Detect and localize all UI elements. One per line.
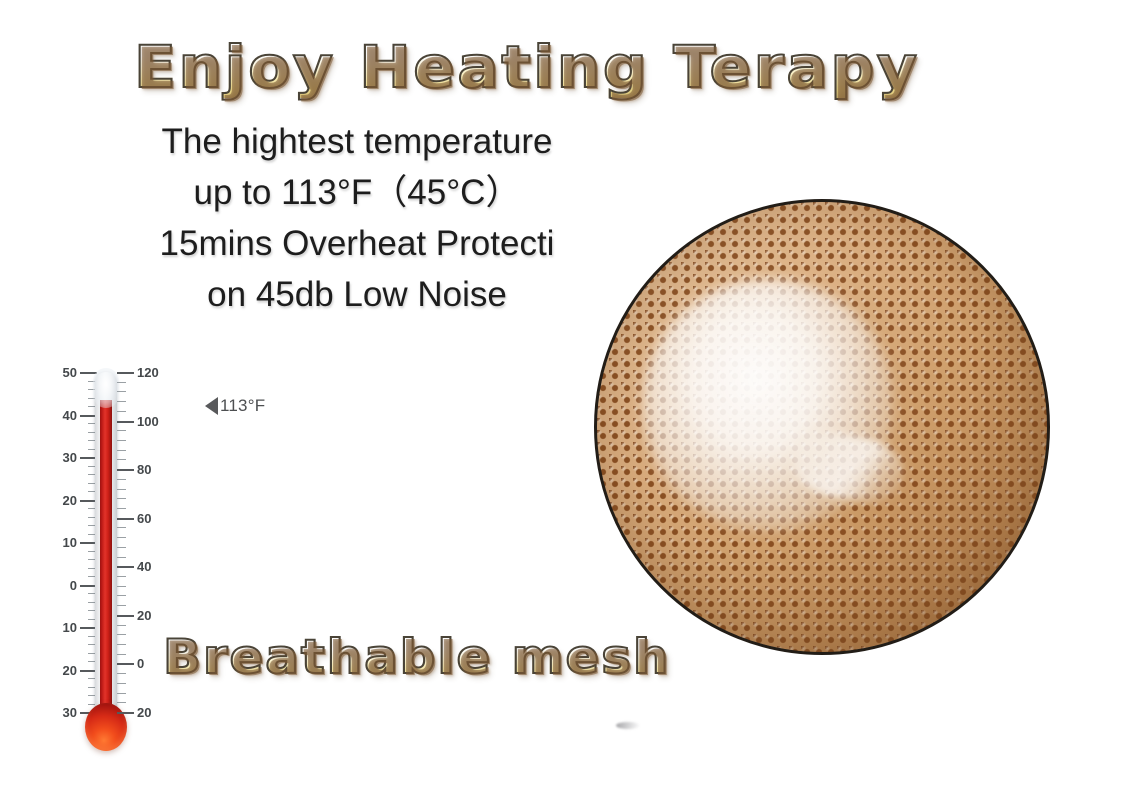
scale-tick-major	[117, 421, 134, 423]
scale-tick-major	[117, 566, 134, 568]
feature-description: The hightest temperature up to 113°F（45°…	[122, 116, 592, 320]
celsius-scale-label: 10	[63, 621, 77, 634]
fahrenheit-scale-label: 120	[137, 366, 159, 379]
scale-tick-minor	[117, 693, 126, 694]
thermometer-illustration: 50403020100102030 12010080604020020 113°…	[55, 368, 245, 748]
scale-tick-major	[117, 712, 134, 714]
scale-tick-major	[117, 372, 134, 374]
scale-tick-minor	[117, 479, 126, 480]
scale-tick-major	[117, 615, 134, 617]
left-triangle-icon	[205, 397, 218, 415]
celsius-scale-label: 50	[63, 366, 77, 379]
scale-tick-minor	[117, 498, 126, 499]
celsius-scale-label: 30	[63, 706, 77, 719]
scale-tick-minor	[117, 440, 126, 441]
scale-tick-major	[117, 469, 134, 471]
celsius-scale-label: 40	[63, 409, 77, 422]
fahrenheit-scale-label: 20	[137, 706, 151, 719]
poster-canvas: Enjoy Heating Terapy The hightest temper…	[0, 0, 1129, 800]
scale-tick-minor	[117, 537, 126, 538]
scale-tick-major	[117, 518, 134, 520]
max-temperature-label: 113°F	[220, 396, 265, 416]
scale-tick-minor	[117, 673, 126, 674]
copy-line-2: up to 113°F（45°C）	[122, 167, 592, 218]
scale-tick-minor	[117, 557, 126, 558]
celsius-scale: 50403020100102030	[41, 372, 101, 712]
scale-tick-minor	[117, 702, 126, 703]
scale-tick-minor	[117, 459, 126, 460]
fahrenheit-scale-label: 80	[137, 463, 151, 476]
copy-line-1: The hightest temperature	[122, 116, 592, 167]
scale-tick-minor	[117, 411, 126, 412]
scale-tick-minor	[117, 382, 126, 383]
celsius-scale-label: 20	[63, 664, 77, 677]
fahrenheit-scale-label: 100	[137, 415, 159, 428]
scale-tick-minor	[117, 644, 126, 645]
celsius-scale-label: 0	[70, 579, 77, 592]
fahrenheit-scale-label: 60	[137, 512, 151, 525]
thermometer-mercury	[100, 400, 112, 730]
mesh-fabric-photo	[594, 199, 1050, 655]
scale-tick-major	[117, 663, 134, 665]
scale-tick-minor	[117, 450, 126, 451]
celsius-scale-label: 20	[63, 494, 77, 507]
celsius-scale-label: 10	[63, 536, 77, 549]
fahrenheit-scale-label: 0	[137, 657, 144, 670]
fahrenheit-scale-label: 40	[137, 560, 151, 573]
scale-tick-minor	[117, 391, 126, 392]
photo-smudge-artifact	[616, 722, 640, 729]
footer-title: Breathable mesh	[163, 632, 670, 684]
scale-tick-minor	[117, 634, 126, 635]
scale-tick-minor	[117, 683, 126, 684]
page-title: Enjoy Heating Terapy	[134, 36, 919, 98]
scale-tick-minor	[117, 576, 126, 577]
max-temperature-marker: 113°F	[205, 396, 265, 416]
celsius-scale-label: 30	[63, 451, 77, 464]
scale-tick-minor	[117, 430, 126, 431]
scale-tick-minor	[117, 508, 126, 509]
scale-tick-minor	[117, 586, 126, 587]
scale-tick-minor	[117, 527, 126, 528]
scale-tick-minor	[117, 595, 126, 596]
scale-tick-minor	[117, 401, 126, 402]
scale-tick-minor	[117, 605, 126, 606]
scale-tick-minor	[117, 654, 126, 655]
mesh-photo-vignette	[597, 202, 1047, 652]
scale-tick-minor	[117, 489, 126, 490]
copy-line-3: 15mins Overheat Protecti	[122, 218, 592, 269]
fahrenheit-scale-label: 20	[137, 609, 151, 622]
scale-tick-minor	[117, 625, 126, 626]
scale-tick-minor	[117, 547, 126, 548]
copy-line-4: on 45db Low Noise	[122, 269, 592, 320]
